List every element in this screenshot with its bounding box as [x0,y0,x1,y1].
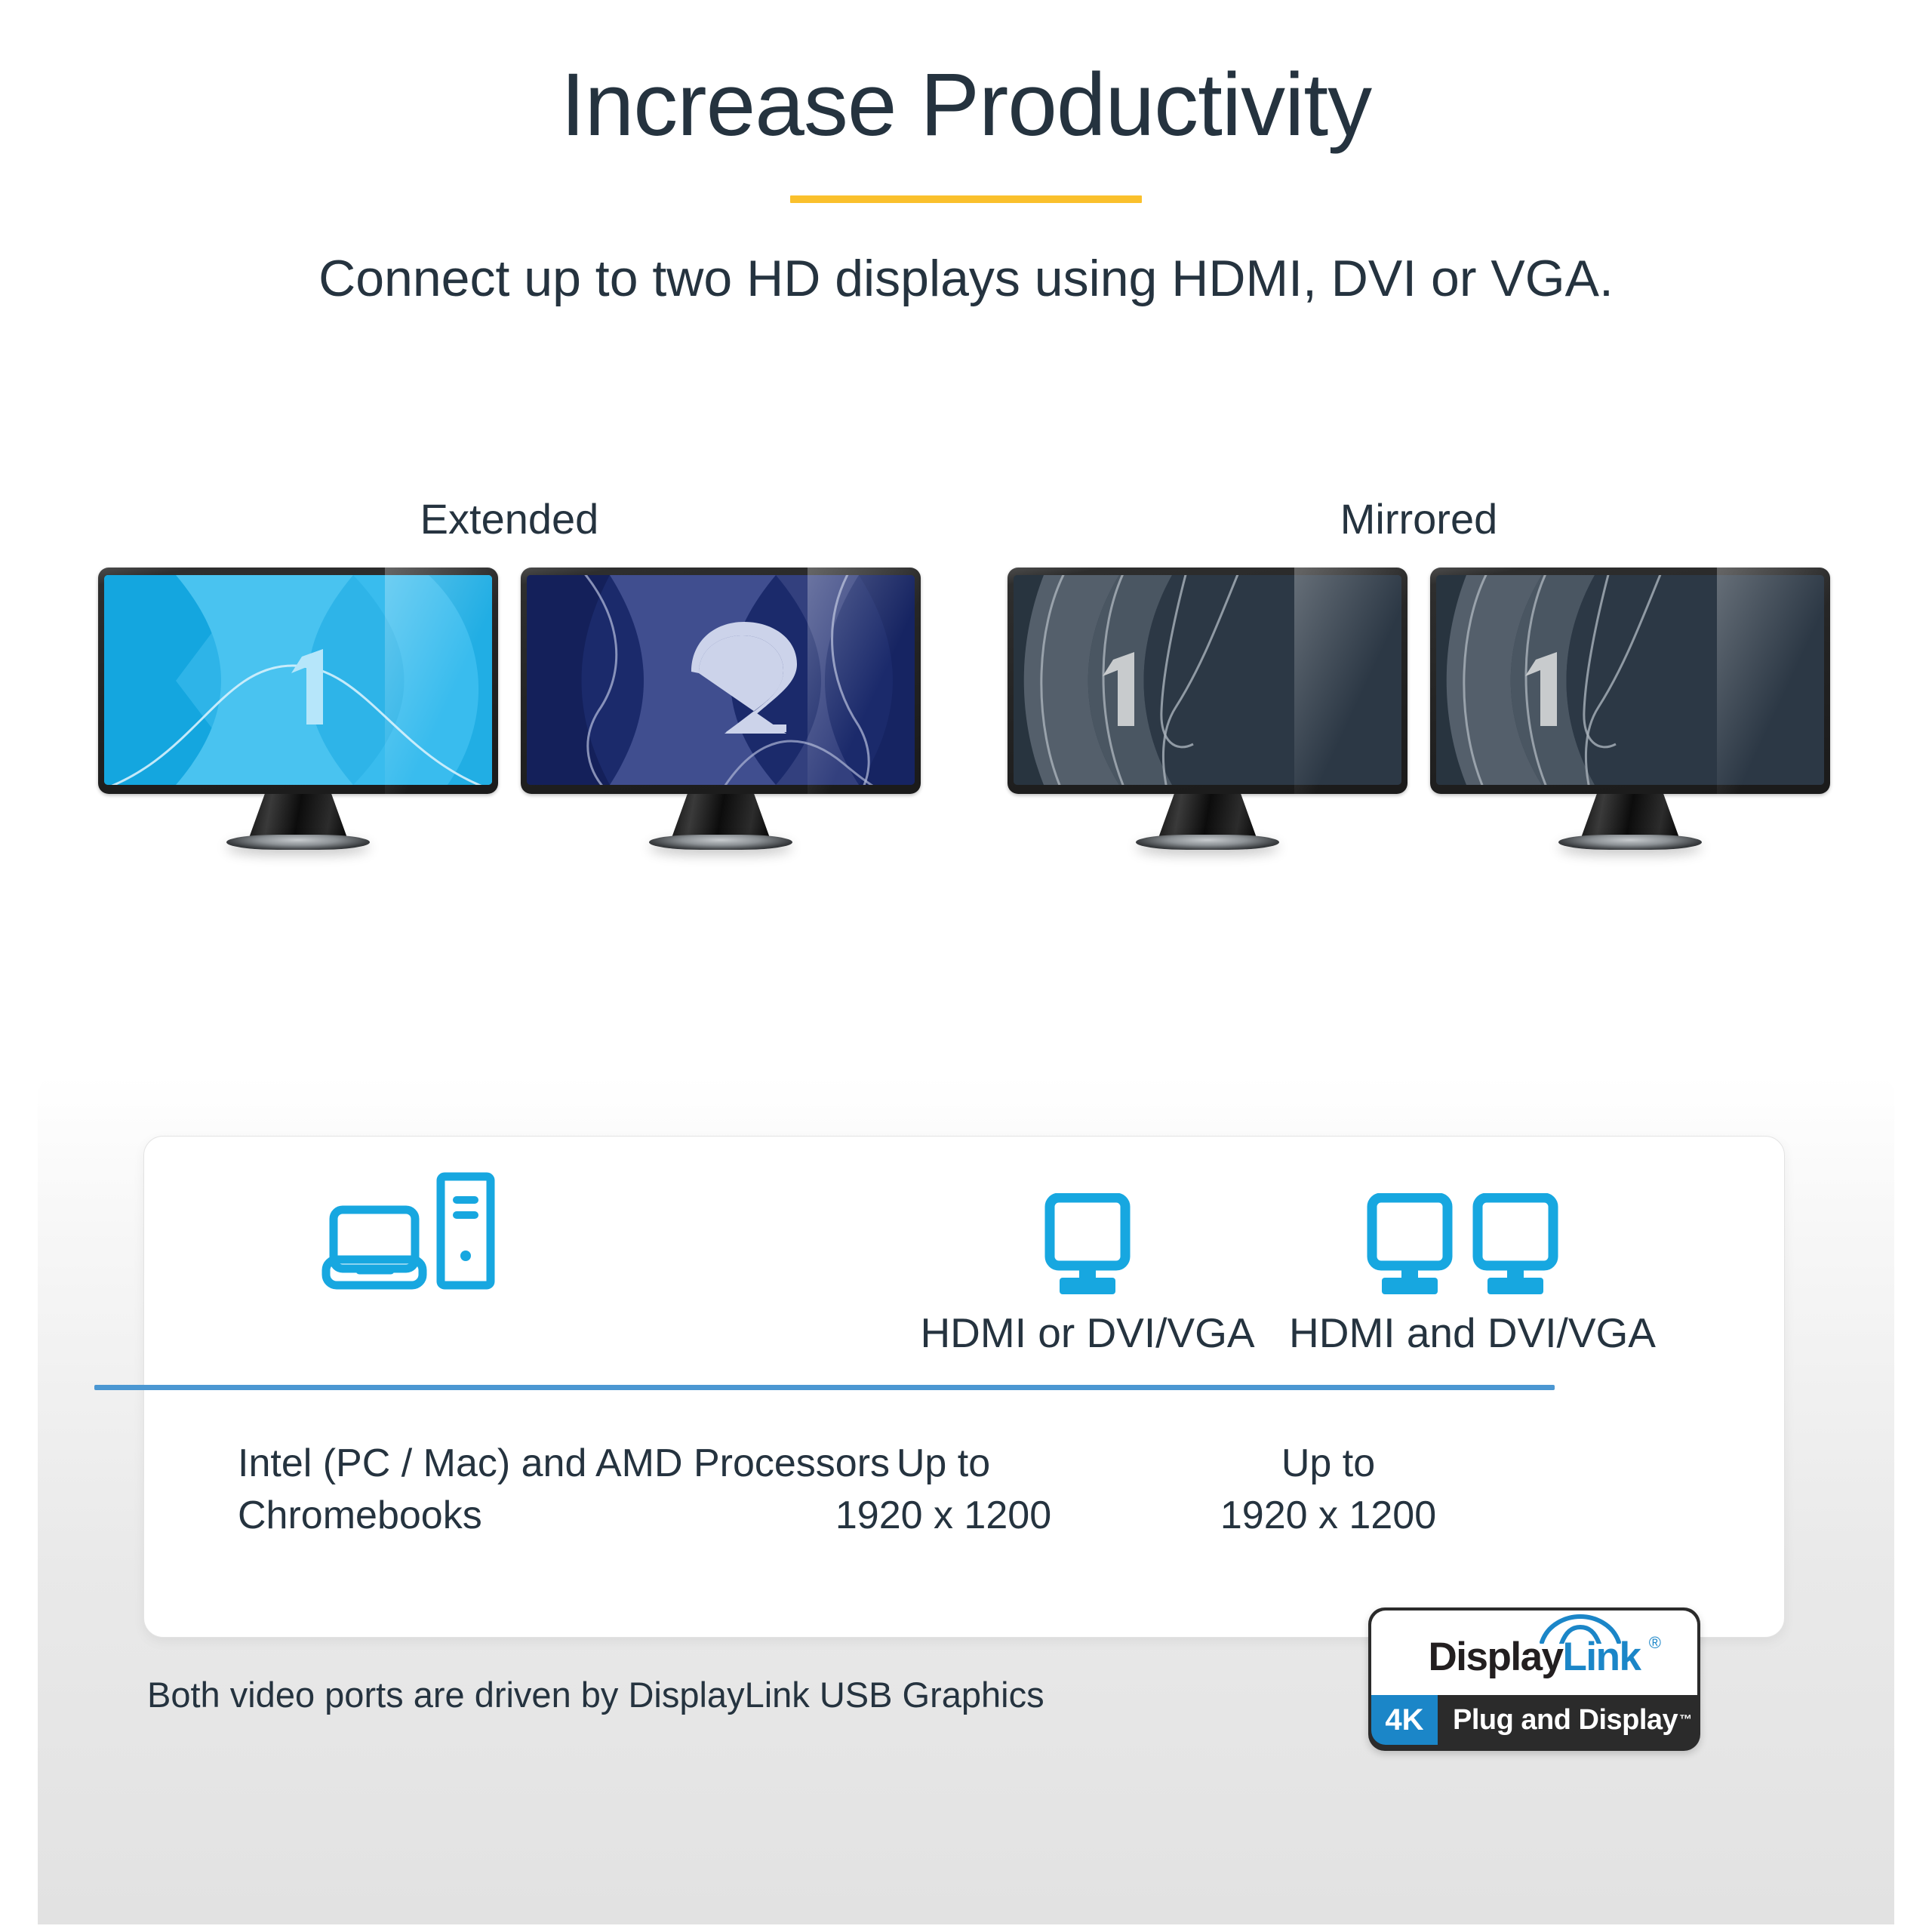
spec-column-compatibility [238,1137,903,1311]
display-mode-mirrored: Mirrored [1008,498,1830,850]
display-mode-illustrations: Extended [0,498,1932,921]
page-subtitle: Connect up to two HD displays using HDMI… [0,203,1932,307]
page-title: Increase Productivity [0,0,1932,152]
displaylink-word-link: Link [1563,1635,1641,1679]
single-display-caption: HDMI or DVI/VGA [891,1311,1284,1355]
monitor-stand [1581,794,1679,838]
single-display-resolution-line-2: 1920 x 1200 [747,1490,1140,1542]
monitor-screen [104,575,492,785]
monitor-bezel [98,568,498,794]
displaylink-badge: DisplayLink® 4K Plug and Display™ [1368,1607,1700,1751]
displaylink-logo-top: DisplayLink® [1371,1611,1697,1695]
trademark-mark-icon: ™ [1679,1712,1692,1727]
displaylink-word-display: Display [1429,1635,1563,1679]
monitor-row-mirrored [1008,568,1830,850]
display-mode-label-mirrored: Mirrored [1008,498,1830,540]
monitor-extended-2 [521,568,921,850]
display-mode-label-extended: Extended [98,498,921,540]
monitor-screen [1014,575,1401,785]
monitor-base [226,835,370,850]
single-monitor-icon [1031,1193,1144,1299]
displaylink-logo-bottom: 4K Plug and Display™ [1371,1695,1697,1745]
monitor-mirrored-1b [1430,568,1830,850]
single-monitor-icon-zone [891,1137,1284,1299]
dual-display-caption: HDMI and DVI/VGA [1246,1311,1699,1355]
monitor-stand [672,794,770,838]
spec-column-single-display: HDMI or DVI/VGA [891,1137,1284,1355]
compatibility-icons [238,1137,903,1299]
dual-display-resolution-line-1: Up to [1102,1438,1555,1490]
displaylink-tagline-text: Plug and Display [1453,1704,1678,1737]
spec-column-dual-display: HDMI and DVI/VGA [1246,1137,1699,1355]
monitor-base [649,835,792,850]
display-mode-extended: Extended [98,498,921,850]
dual-display-resolution-line-2: 1920 x 1200 [1102,1490,1555,1542]
displaylink-wordmark: DisplayLink® [1429,1637,1641,1677]
displaylink-tagline: Plug and Display™ [1438,1704,1697,1737]
monitor-extended-1 [98,568,498,850]
monitor-row-extended [98,568,921,850]
footnote-text: Both video ports are driven by DisplayLi… [147,1677,1044,1712]
laptop-and-desktop-icon [321,1171,563,1299]
monitor-base [1558,835,1702,850]
monitor-stand [1158,794,1257,838]
monitor-base [1136,835,1279,850]
monitor-bezel [1430,568,1830,794]
dual-monitor-icon [1363,1193,1582,1299]
monitor-mirrored-1a [1008,568,1407,850]
monitor-bezel [1008,568,1407,794]
monitor-stand [249,794,347,838]
title-underline-rule [790,195,1142,203]
page-header: Increase Productivity Connect up to two … [0,0,1932,307]
dual-monitor-icon-zone [1246,1137,1699,1299]
registered-mark-icon: ® [1649,1635,1660,1651]
spec-card-divider [94,1385,1555,1390]
monitor-screen [1436,575,1824,785]
displaylink-4k-tag: 4K [1371,1695,1438,1745]
monitor-bezel [521,568,921,794]
single-display-resolution: Up to 1920 x 1200 [747,1438,1140,1542]
monitor-screen [527,575,915,785]
single-display-resolution-line-1: Up to [747,1438,1140,1490]
dual-display-resolution: Up to 1920 x 1200 [1102,1438,1555,1542]
